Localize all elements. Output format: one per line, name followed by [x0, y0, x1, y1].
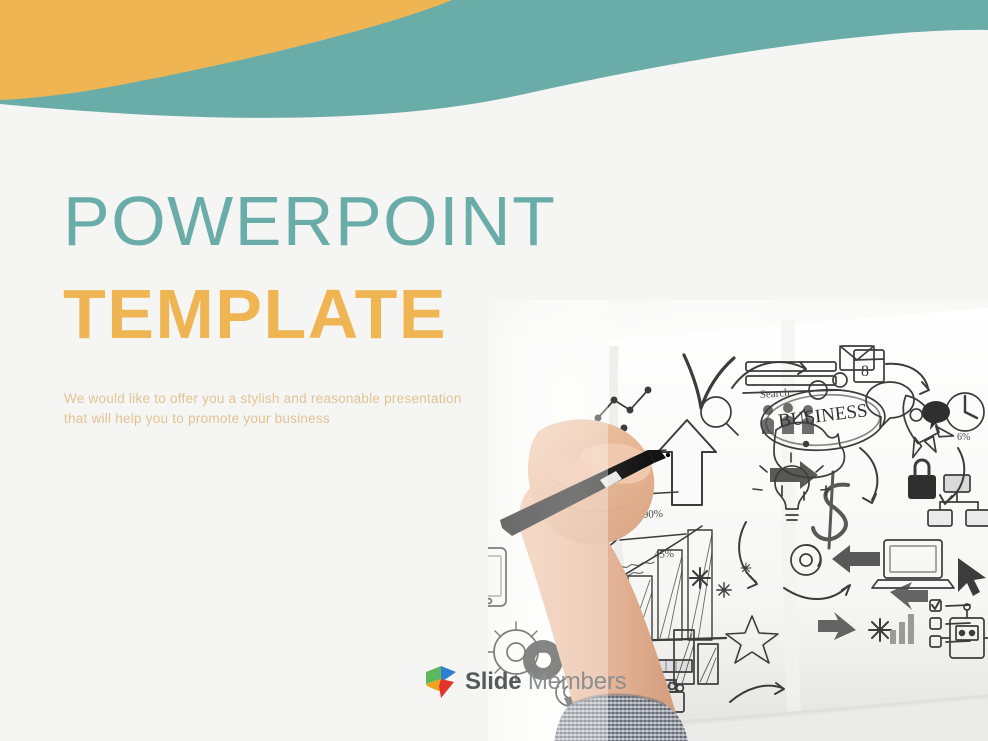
presentation-slide: POWERPOINT TEMPLATE We would like to off…	[0, 0, 988, 741]
logo-word-slide: Slide	[465, 668, 521, 695]
teal-wave-shape	[0, 0, 988, 118]
logo-facet-blue	[441, 666, 456, 681]
subtitle-line-1: We would like to offer you a stylish and…	[64, 389, 504, 409]
page-title-primary: POWERPOINT	[63, 186, 533, 256]
top-wave-banner	[0, 0, 988, 150]
slidemembers-logo: Slide Members	[424, 662, 626, 702]
doodle-search-label: Search	[759, 387, 790, 401]
subtitle-line-2: that will help you to promote your busin…	[64, 409, 504, 429]
logo-word-members: Members	[521, 668, 626, 695]
doodle-gauge-label: 6%	[957, 432, 970, 443]
slidemembers-logo-text: Slide Members	[465, 670, 626, 694]
page-title-secondary: TEMPLATE	[63, 279, 533, 349]
logo-facet-red	[439, 679, 454, 698]
orange-wave-shape	[0, 0, 452, 100]
title-block: POWERPOINT TEMPLATE	[63, 186, 533, 349]
subtitle-text: We would like to offer you a stylish and…	[64, 389, 504, 429]
slidemembers-logo-mark	[424, 664, 458, 700]
doodle-calendar-day: 8	[861, 363, 869, 380]
